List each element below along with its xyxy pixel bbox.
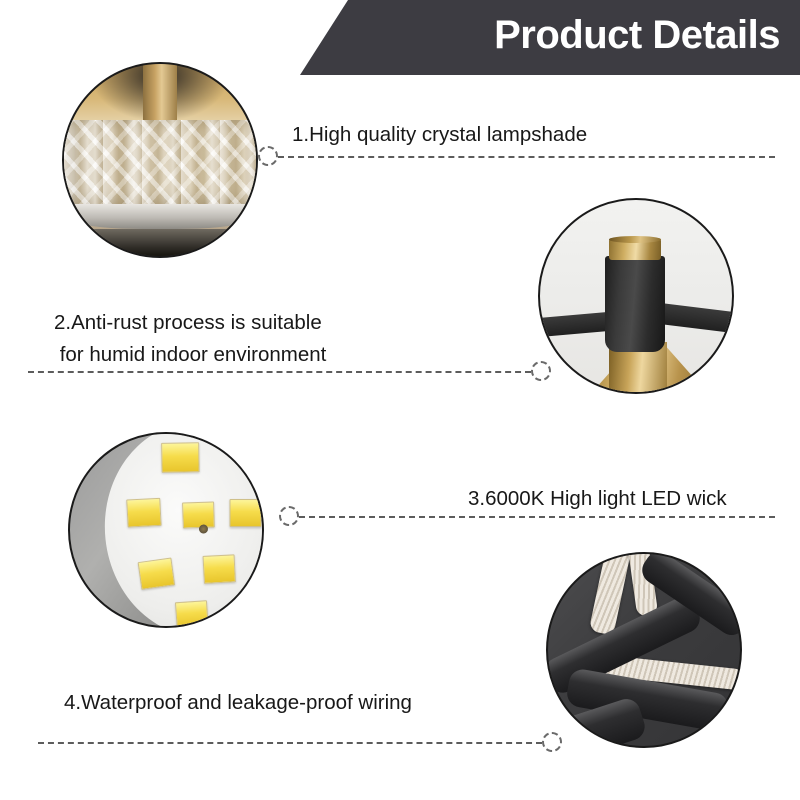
led-circuit-board <box>94 432 264 628</box>
connector-dot-2 <box>531 361 551 381</box>
connector-dot-3 <box>279 506 299 526</box>
connector-line-1 <box>278 156 775 158</box>
connector-line-2 <box>28 371 531 373</box>
anti-rust-mount-photo <box>538 198 734 394</box>
mount-body <box>605 256 665 352</box>
waterproof-wiring-photo <box>546 552 742 748</box>
led-chip <box>137 558 175 590</box>
feature-4-label: 4.Waterproof and leakage-proof wiring <box>64 688 412 718</box>
feature-3-label: 3.6000K High light LED wick <box>468 484 727 514</box>
led-chip <box>229 499 261 527</box>
connector-dot-1 <box>258 146 278 166</box>
connector-line-3 <box>299 516 775 518</box>
connector-line-4 <box>38 742 542 744</box>
led-chip <box>202 555 236 584</box>
page-title: Product Details <box>300 0 780 75</box>
crystal-footer <box>64 229 256 256</box>
led-chip <box>175 601 209 628</box>
product-details-infographic: Product Details 1.High quality crystal l… <box>0 0 800 800</box>
feature-2-label-line1: 2.Anti-rust process is suitable <box>54 308 322 338</box>
connector-dot-4 <box>542 732 562 752</box>
crystal-lampshade-photo <box>62 62 258 258</box>
feature-2-label-line2: for humid indoor environment <box>54 340 326 370</box>
crystal-stem <box>143 64 178 127</box>
crystal-facets <box>64 120 256 206</box>
led-chip <box>126 498 161 528</box>
led-wick-photo <box>68 432 264 628</box>
led-board-center-rivet <box>198 525 208 535</box>
feature-1-label: 1.High quality crystal lampshade <box>292 120 587 150</box>
led-chip <box>161 443 199 474</box>
crystal-base <box>72 204 249 229</box>
led-chip <box>182 501 215 528</box>
